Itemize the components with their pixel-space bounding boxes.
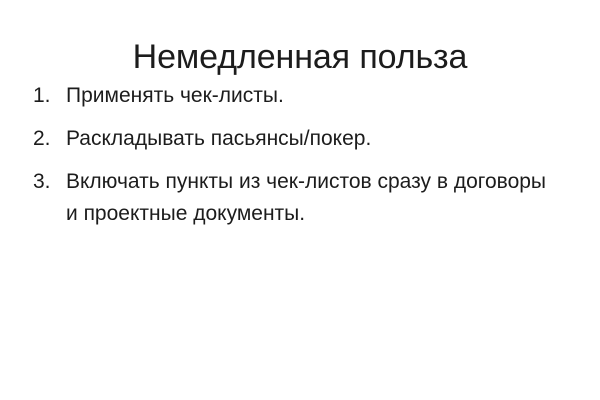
slide-canvas: Немедленная польза 1. Применять чек-лист… — [0, 0, 600, 400]
list-item: 2. Раскладывать пасьянсы/покер. — [33, 123, 553, 155]
list-item-marker: 3. — [33, 166, 61, 198]
page-title: Немедленная польза — [0, 36, 600, 78]
numbered-list: 1. Применять чек-листы. 2. Раскладывать … — [33, 80, 553, 230]
list-item-text: Включать пункты из чек-листов сразу в до… — [66, 166, 553, 230]
list-item: 1. Применять чек-листы. — [33, 80, 553, 112]
list-item-text: Применять чек-листы. — [66, 80, 553, 112]
list-item: 3. Включать пункты из чек-листов сразу в… — [33, 166, 553, 230]
list-item-marker: 2. — [33, 123, 61, 155]
list-item-text: Раскладывать пасьянсы/покер. — [66, 123, 553, 155]
list-item-marker: 1. — [33, 80, 61, 112]
